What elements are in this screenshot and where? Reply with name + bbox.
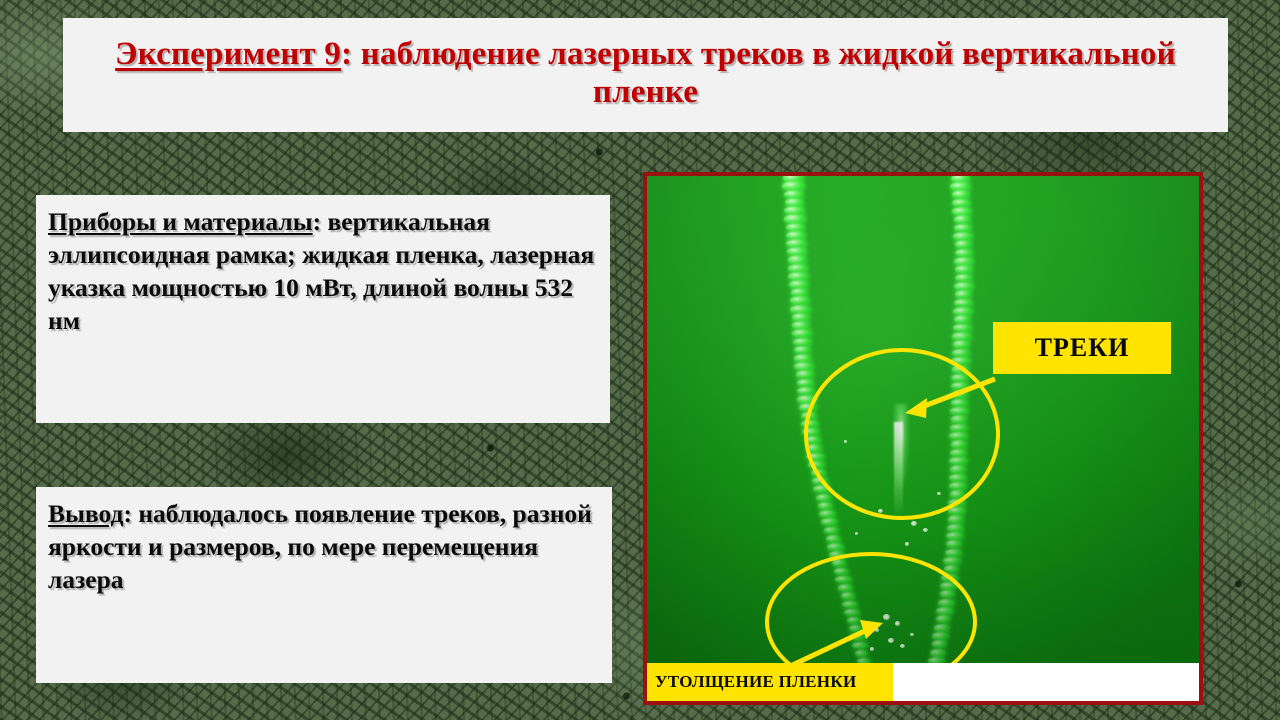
laser-bead [952,332,971,341]
laser-bead [955,240,972,249]
laser-bead [945,549,962,557]
annotation-ellipse-tracks [804,348,1000,520]
title-keyword: Эксперимент 9 [115,36,341,72]
label-thickening: УТОЛЩЕНИЕ ПЛЕНКИ [647,663,893,701]
experiment-photo: ТРЕКИ УТОЛЩЕНИЕ ПЛЕНКИ [647,176,1199,701]
laser-bead [943,557,961,565]
laser-bead [947,524,964,532]
laser-bead [955,290,972,299]
laser-bead [954,315,971,324]
laser-bead [946,540,961,548]
laser-bead [954,215,971,224]
film-droplet [855,532,858,535]
label-thickening-text: УТОЛЩЕНИЕ ПЛЕНКИ [655,672,856,692]
film-droplet [923,528,928,532]
laser-bead [955,274,974,283]
conclusion-text-box: Вывод: наблюдалось появление треков, раз… [36,487,612,683]
photo-bottom-white-strip [893,663,1199,701]
label-tracks-text: ТРЕКИ [1035,333,1130,363]
film-droplet [911,521,917,526]
laser-bead [952,349,970,358]
film-droplet [905,542,909,546]
laser-bead [953,340,970,349]
apparatus-text-box: Приборы и материалы: вертикальная эллипс… [36,195,610,423]
laser-bead [955,265,972,274]
title-separator: : [341,36,361,72]
page-title: Эксперимент 9: наблюдение лазерных треко… [73,35,1218,112]
experiment-photo-frame: ТРЕКИ УТОЛЩЕНИЕ ПЛЕНКИ [643,172,1203,705]
title-rest: наблюдение лазерных треков в жидкой верт… [361,36,1176,110]
laser-bead [952,190,970,199]
label-tracks: ТРЕКИ [993,322,1171,374]
title-box: Эксперимент 9: наблюдение лазерных треко… [63,18,1228,132]
apparatus-separator: : [313,207,328,236]
conclusion-keyword: Вывод [48,499,123,528]
laser-bead [954,299,972,308]
laser-bead [953,324,971,333]
laser-bead [948,515,964,523]
slide-canvas: Эксперимент 9: наблюдение лазерных треко… [0,0,1280,720]
apparatus-keyword: Приборы и материалы [48,207,313,236]
laser-bead [946,532,964,540]
conclusion-separator: : [123,499,138,528]
